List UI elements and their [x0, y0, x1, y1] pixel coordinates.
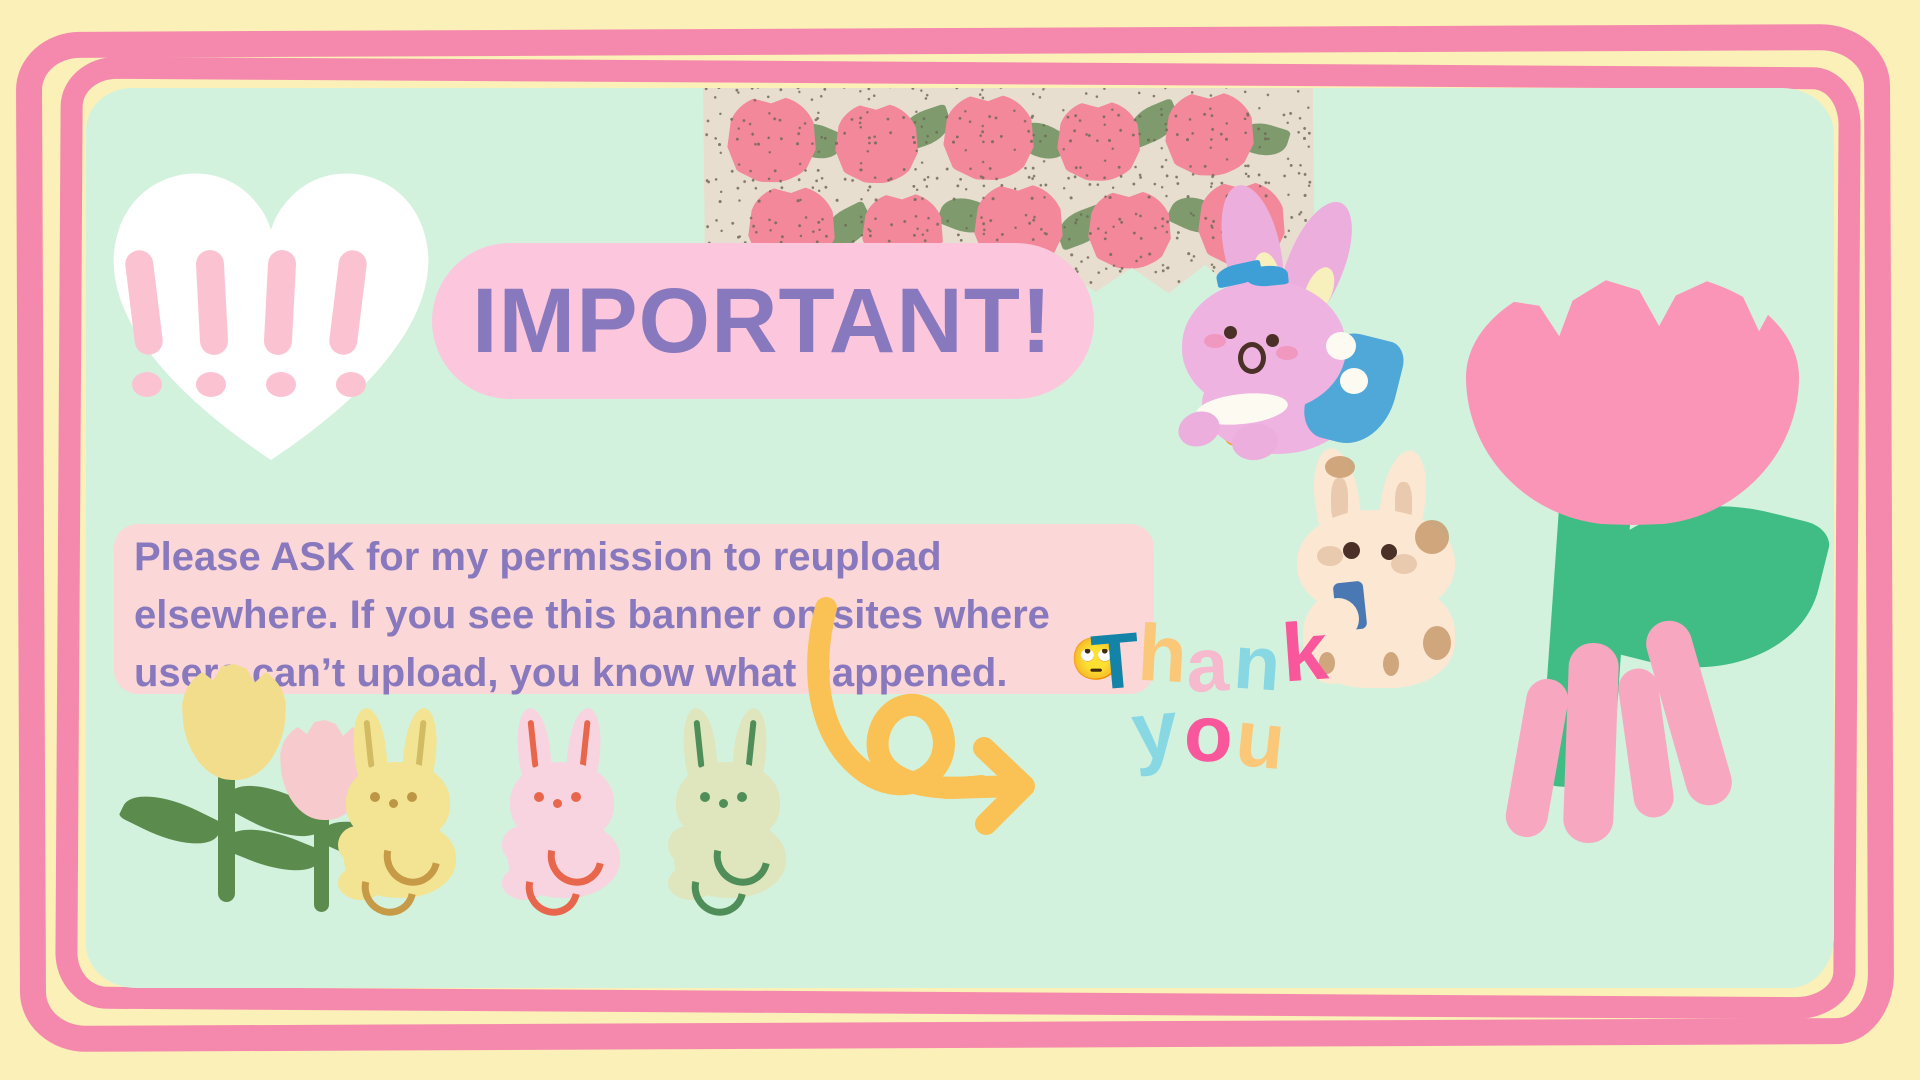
bunny-mouth [1238, 342, 1266, 374]
yellow-candy-bunny [342, 708, 472, 898]
heart-exclamation-dot [266, 372, 296, 397]
green-candy-bunny [672, 708, 802, 898]
flying-pink-bunny [1158, 184, 1408, 459]
washi-rose [725, 96, 818, 183]
bunny-head-spot [1415, 520, 1449, 554]
washi-rose [833, 103, 920, 184]
thankyou-letter-y: y [1127, 682, 1182, 780]
pink-candy-bunny [506, 708, 636, 898]
bunny-cheek-left [1204, 334, 1226, 348]
bunny-eye-left [1224, 326, 1237, 339]
big-tulip-head [1466, 270, 1799, 525]
heart-exclamation-dot [336, 372, 366, 397]
mint-card: IMPORTANT! [86, 88, 1834, 988]
bunny-cape-pom-top [1326, 332, 1356, 360]
yellow-tulip-head [182, 664, 286, 780]
bunny-eye-left [1343, 542, 1360, 559]
bunny-eye-right [1266, 334, 1279, 347]
banner-canvas: IMPORTANT! [0, 0, 1920, 1080]
washi-rose [941, 94, 1036, 181]
heart-sticker [96, 150, 446, 470]
washi-leaf [1052, 203, 1110, 251]
bunny-cheek-right [1391, 554, 1417, 574]
heart-exclamation-bar [263, 249, 296, 355]
thankyou-letter-o: o [1182, 687, 1234, 781]
washi-rose [1055, 101, 1142, 182]
bunny-ear-spot [1325, 456, 1355, 478]
bunny-cape-pom-bottom [1340, 368, 1368, 394]
bunny-foot-spot-right [1383, 652, 1399, 676]
washi-leaf [785, 115, 846, 167]
washi-leaf [1234, 117, 1291, 162]
heart-exclamation-dot [196, 372, 226, 397]
thankyou-letter-u: u [1231, 692, 1289, 789]
washi-leaf [895, 103, 955, 152]
curly-orange-arrow [806, 588, 1116, 848]
bunny-cheek-left [1317, 546, 1343, 566]
heart-exclamation-bar [195, 249, 228, 355]
bunny-side-spot [1423, 626, 1451, 660]
washi-leaf [1123, 98, 1184, 149]
thankyou-letter-k: k [1279, 605, 1331, 702]
bunny-cheek-right [1276, 346, 1298, 360]
washi-leaf [1011, 113, 1073, 168]
heart-exclamation-dot [132, 372, 162, 397]
page-title: IMPORTANT! [472, 266, 1112, 376]
washi-rose [1163, 91, 1256, 176]
washi-leaf [936, 190, 997, 241]
